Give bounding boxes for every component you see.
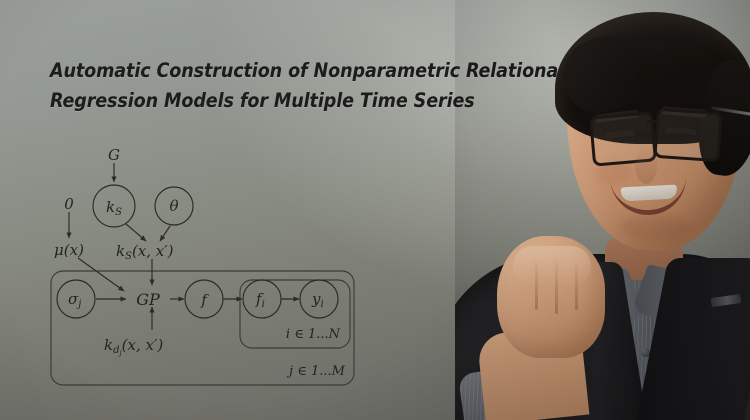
graphical-model-diagram: i ∈ 1...N j ∈ 1...M G 0 kS θ μ(x) kS(x, … [0,0,420,420]
node-label-theta: θ [169,197,178,215]
node-label-yi: yi [311,290,324,310]
plate-inner-label: i ∈ 1...N [286,327,341,342]
node-label-fi: fi [255,290,265,310]
edge-theta-to-ksxx [160,226,170,241]
node-label-zero: 0 [64,195,74,213]
node-label-sigma: σj [68,290,81,310]
node-label-f: f [200,291,209,309]
finger-crease-1 [535,258,538,310]
label-kd-xx: kdj(x, x′) [104,336,163,357]
node-label-gp: GP [136,290,160,309]
chin-shadow [621,214,691,240]
plate-outer-label: j ∈ 1...M [286,364,346,379]
finger-crease-2 [555,256,558,314]
node-label-ks: kS [106,198,122,218]
presenter-portrait [455,0,750,420]
eyeglasses-lens-right [653,108,722,162]
label-mu-x: μ(x) [54,241,84,259]
node-label-g: G [108,146,120,164]
finger-crease-3 [575,260,578,310]
label-ks-xx: kS(x, x′) [116,242,174,262]
knuckles-highlight [513,246,591,286]
video-slide: Automatic Construction of Nonparametric … [0,0,750,420]
edge-mu-to-gp [78,258,124,291]
edge-ks-to-ksxx [126,224,146,241]
